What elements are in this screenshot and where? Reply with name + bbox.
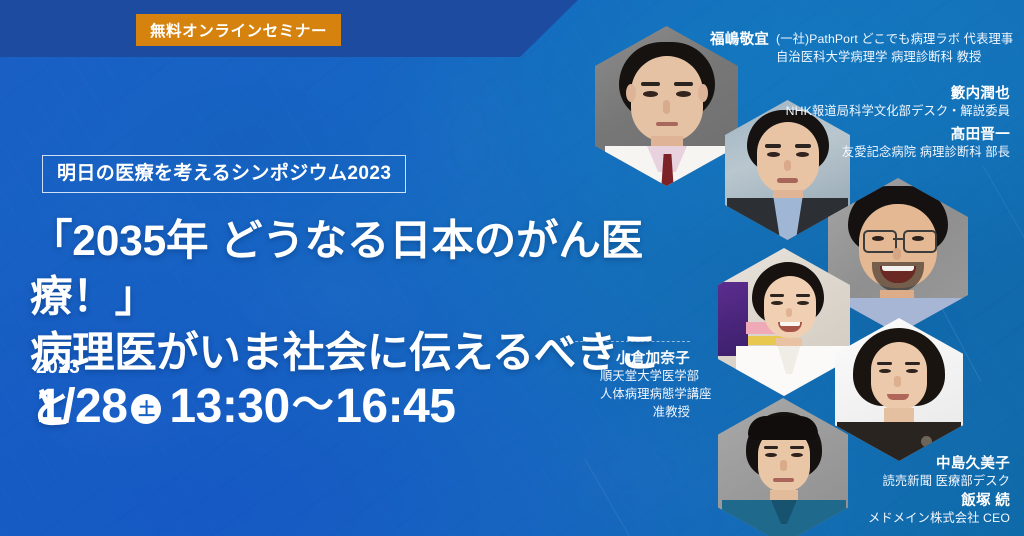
decorative-line: [585, 459, 641, 536]
speaker-label-yabuuchi: 籔内潤也 NHK報道局科学文化部デスク・解説委員: [786, 85, 1010, 121]
speaker-name: 福嶋敬宜: [710, 31, 769, 49]
speaker-photo-nakajima: [835, 318, 963, 461]
event-time-end: 16:45: [335, 383, 455, 431]
headline-line-1: 「2035年 どうなる日本のがん医療！」: [30, 214, 670, 326]
speaker-name: 小倉加奈子: [600, 350, 690, 368]
speaker-affiliation: 准教授: [600, 404, 690, 422]
speaker-affiliation: (一社)PathPort どこでも病理ラボ 代表理事: [776, 31, 1013, 49]
speaker-affiliation: 人体病理病態学講座: [600, 386, 690, 404]
speaker-label-iizuka: 飯塚 続 メドメイン株式会社 CEO: [868, 492, 1010, 528]
speaker-name: 籔内潤也: [786, 85, 1010, 103]
event-datetime: 2023 1/28 土 13:30 〜 16:45: [36, 358, 455, 431]
speaker-affiliation: メドメイン株式会社 CEO: [868, 510, 1010, 528]
speaker-affiliation: NHK報道局科学文化部デスク・解説委員: [786, 103, 1010, 121]
speaker-affiliation: 読売新聞 医療部デスク: [883, 473, 1011, 491]
event-date-time: 1/28 土 13:30 〜 16:45: [36, 383, 455, 431]
speaker-label-nakajima: 中島久美子 読売新聞 医療部デスク: [883, 455, 1011, 491]
speaker-name: 髙田晋一: [842, 126, 1010, 144]
time-separator: 〜: [292, 384, 334, 426]
speaker-label-takada: 髙田晋一 友愛記念病院 病理診断科 部長: [842, 126, 1010, 162]
speaker-name: 中島久美子: [883, 455, 1011, 473]
event-date: 1/28: [36, 383, 127, 431]
speaker-name: 飯塚 続: [868, 492, 1010, 510]
speaker-affiliation: 自治医科大学病理学 病理診断科 教授: [776, 49, 1013, 67]
speaker-photo-iizuka: [718, 398, 848, 536]
seminar-poster: PathPort any time & any place pathology …: [0, 0, 1024, 536]
decorative-line: [983, 166, 1024, 244]
symposium-label: 明日の医療を考えるシンポジウム2023: [42, 155, 406, 193]
speaker-label-ogura: 小倉加奈子 順天堂大学医学部 人体病理病態学講座 准教授: [600, 350, 690, 422]
speaker-affiliation: 友愛記念病院 病理診断科 部長: [842, 144, 1010, 162]
event-year: 2023: [36, 358, 455, 377]
speaker-label-fukushima: 福嶋敬宜 (一社)PathPort どこでも病理ラボ 代表理事 自治医科大学病理…: [710, 31, 1013, 67]
day-of-week-badge: 土: [131, 394, 161, 424]
free-online-seminar-badge[interactable]: 無料オンラインセミナー: [136, 14, 341, 46]
event-time-start: 13:30: [169, 383, 289, 431]
speaker-affiliation: 順天堂大学医学部: [600, 368, 690, 386]
